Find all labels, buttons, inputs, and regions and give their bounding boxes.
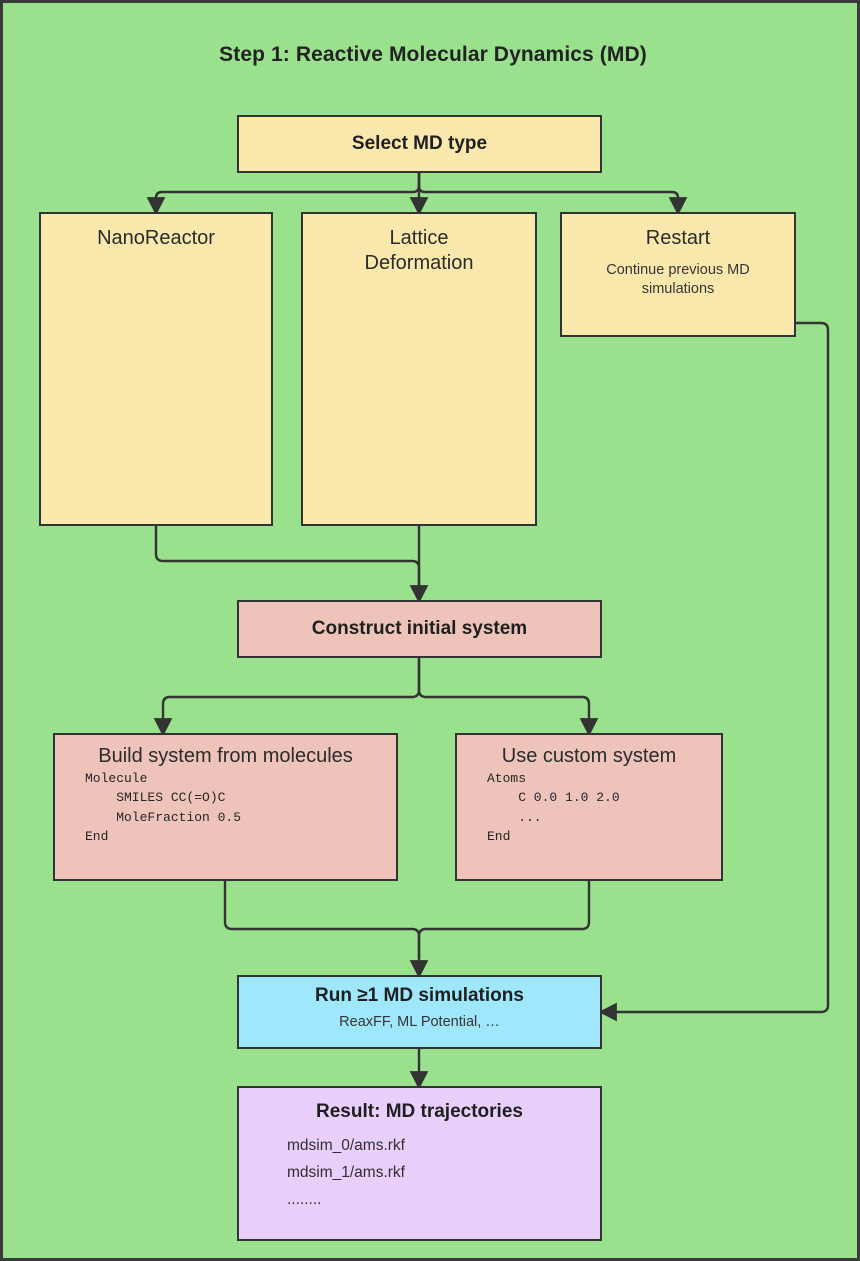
edge-custom-to-run <box>419 881 589 958</box>
node-run-md-label: Run ≥1 MD simulations <box>239 977 600 1007</box>
node-select-md-type[interactable]: Select MD type <box>237 115 602 173</box>
node-build-system-label: Build system from molecules <box>55 735 396 769</box>
edge-restart-to-run <box>602 323 828 1012</box>
edge-construct-to-custom <box>419 658 589 733</box>
result-file-item: ........ <box>287 1186 600 1213</box>
node-lattice-deformation[interactable]: Lattice Deformation <box>301 212 537 526</box>
node-use-custom-system[interactable]: Use custom system Atoms C 0.0 1.0 2.0 ..… <box>455 733 723 881</box>
node-lattice-deformation-label-line2: Deformation <box>303 251 535 276</box>
node-result-label: Result: MD trajectories <box>239 1088 600 1123</box>
page-title: Step 1: Reactive Molecular Dynamics (MD) <box>3 43 860 67</box>
edge-nanoreactor-to-construct <box>156 526 419 588</box>
edge-construct-to-build <box>163 658 419 733</box>
node-construct-initial-system-label: Construct initial system <box>312 618 527 640</box>
result-file-item: mdsim_1/ams.rkf <box>287 1159 600 1186</box>
node-nanoreactor-label: NanoReactor <box>41 214 271 251</box>
node-restart-label: Restart <box>562 214 794 251</box>
node-restart[interactable]: Restart Continue previous MD simulations <box>560 212 796 337</box>
node-restart-description-line1: Continue previous MD <box>562 261 794 281</box>
node-build-system-from-molecules[interactable]: Build system from molecules Molecule SMI… <box>53 733 398 881</box>
edge-select-to-restart <box>419 173 678 212</box>
node-nanoreactor[interactable]: NanoReactor <box>39 212 273 526</box>
node-select-md-type-label: Select MD type <box>352 133 487 155</box>
flowchart-canvas: Step 1: Reactive Molecular Dynamics (MD) <box>0 0 860 1261</box>
node-lattice-deformation-label-line1: Lattice <box>303 226 535 251</box>
edge-select-to-nanoreactor <box>156 173 419 212</box>
result-file-item: mdsim_0/ams.rkf <box>287 1132 600 1159</box>
node-run-md-subtitle: ReaxFF, ML Potential, … <box>239 1013 600 1033</box>
node-use-custom-system-code: Atoms C 0.0 1.0 2.0 ... End <box>487 769 721 847</box>
node-run-md-simulations[interactable]: Run ≥1 MD simulations ReaxFF, ML Potenti… <box>237 975 602 1049</box>
edge-build-to-run <box>225 881 419 975</box>
node-restart-description-line2: simulations <box>562 280 794 300</box>
node-result-md-trajectories[interactable]: Result: MD trajectories mdsim_0/ams.rkf … <box>237 1086 602 1241</box>
node-build-system-code: Molecule SMILES CC(=O)C MoleFraction 0.5… <box>85 769 396 847</box>
node-use-custom-system-label: Use custom system <box>457 735 721 769</box>
node-construct-initial-system[interactable]: Construct initial system <box>237 600 602 658</box>
